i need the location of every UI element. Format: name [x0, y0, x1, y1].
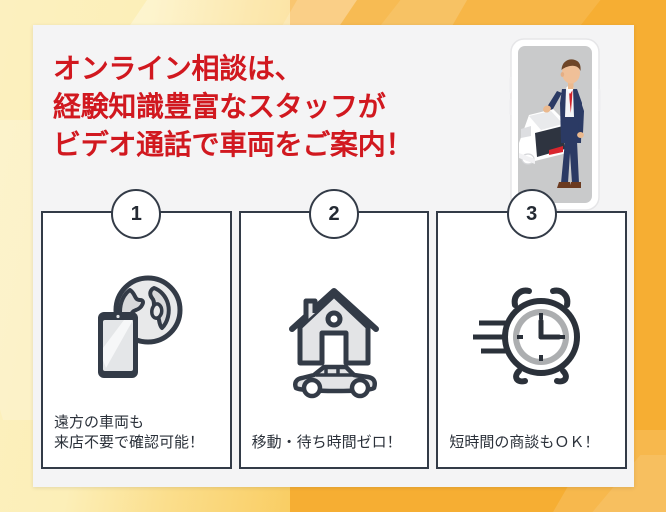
feature-card-3[interactable]: 3	[436, 211, 627, 469]
card-caption-2: 移動・待ち時間ゼロ！	[241, 433, 428, 467]
card-caption-2-line-1: 移動・待ち時間ゼロ！	[252, 433, 417, 453]
phone-illustration	[509, 37, 601, 212]
card-caption-1-line-1: 遠方の車両も	[54, 413, 219, 433]
card-illustration-1	[43, 213, 230, 413]
smartphone-globe-icon	[78, 268, 194, 384]
card-caption-3-line-1: 短時間の商談もＯＫ！	[449, 433, 614, 453]
page-title: オンライン相談は、 経験知識豊富なスタッフが ビデオ通話で車両をご案内！	[53, 50, 513, 164]
content-panel: オンライン相談は、 経験知識豊富なスタッフが ビデオ通話で車両をご案内！	[33, 25, 634, 487]
video-call-preview	[509, 37, 601, 212]
house-car-icon	[276, 271, 392, 401]
car-sub-icon	[295, 367, 375, 396]
card-number-badge-2: 2	[309, 189, 359, 239]
card-number-badge-3: 3	[507, 189, 557, 239]
card-illustration-3	[438, 213, 625, 433]
headline-line-2: 経験知識豊富なスタッフが	[53, 88, 513, 126]
card-number-badge-1: 1	[111, 189, 161, 239]
feature-card-list: 1 遠方の車両も	[39, 211, 629, 469]
headline-line-3: ビデオ通話で車両をご案内！	[53, 126, 513, 164]
card-caption-1: 遠方の車両も 来店不要で確認可能！	[43, 413, 230, 468]
feature-card-1[interactable]: 1 遠方の車両も	[41, 211, 232, 469]
feature-card-2[interactable]: 2	[239, 211, 430, 469]
card-caption-1-line-2: 来店不要で確認可能！	[54, 433, 219, 453]
card-caption-3: 短時間の商談もＯＫ！	[438, 433, 625, 467]
speedy-alarm-clock-icon	[471, 283, 593, 389]
headline-line-1: オンライン相談は、	[53, 50, 513, 88]
card-illustration-2	[241, 213, 428, 433]
promo-banner: オンライン相談は、 経験知識豊富なスタッフが ビデオ通話で車両をご案内！	[0, 0, 666, 512]
